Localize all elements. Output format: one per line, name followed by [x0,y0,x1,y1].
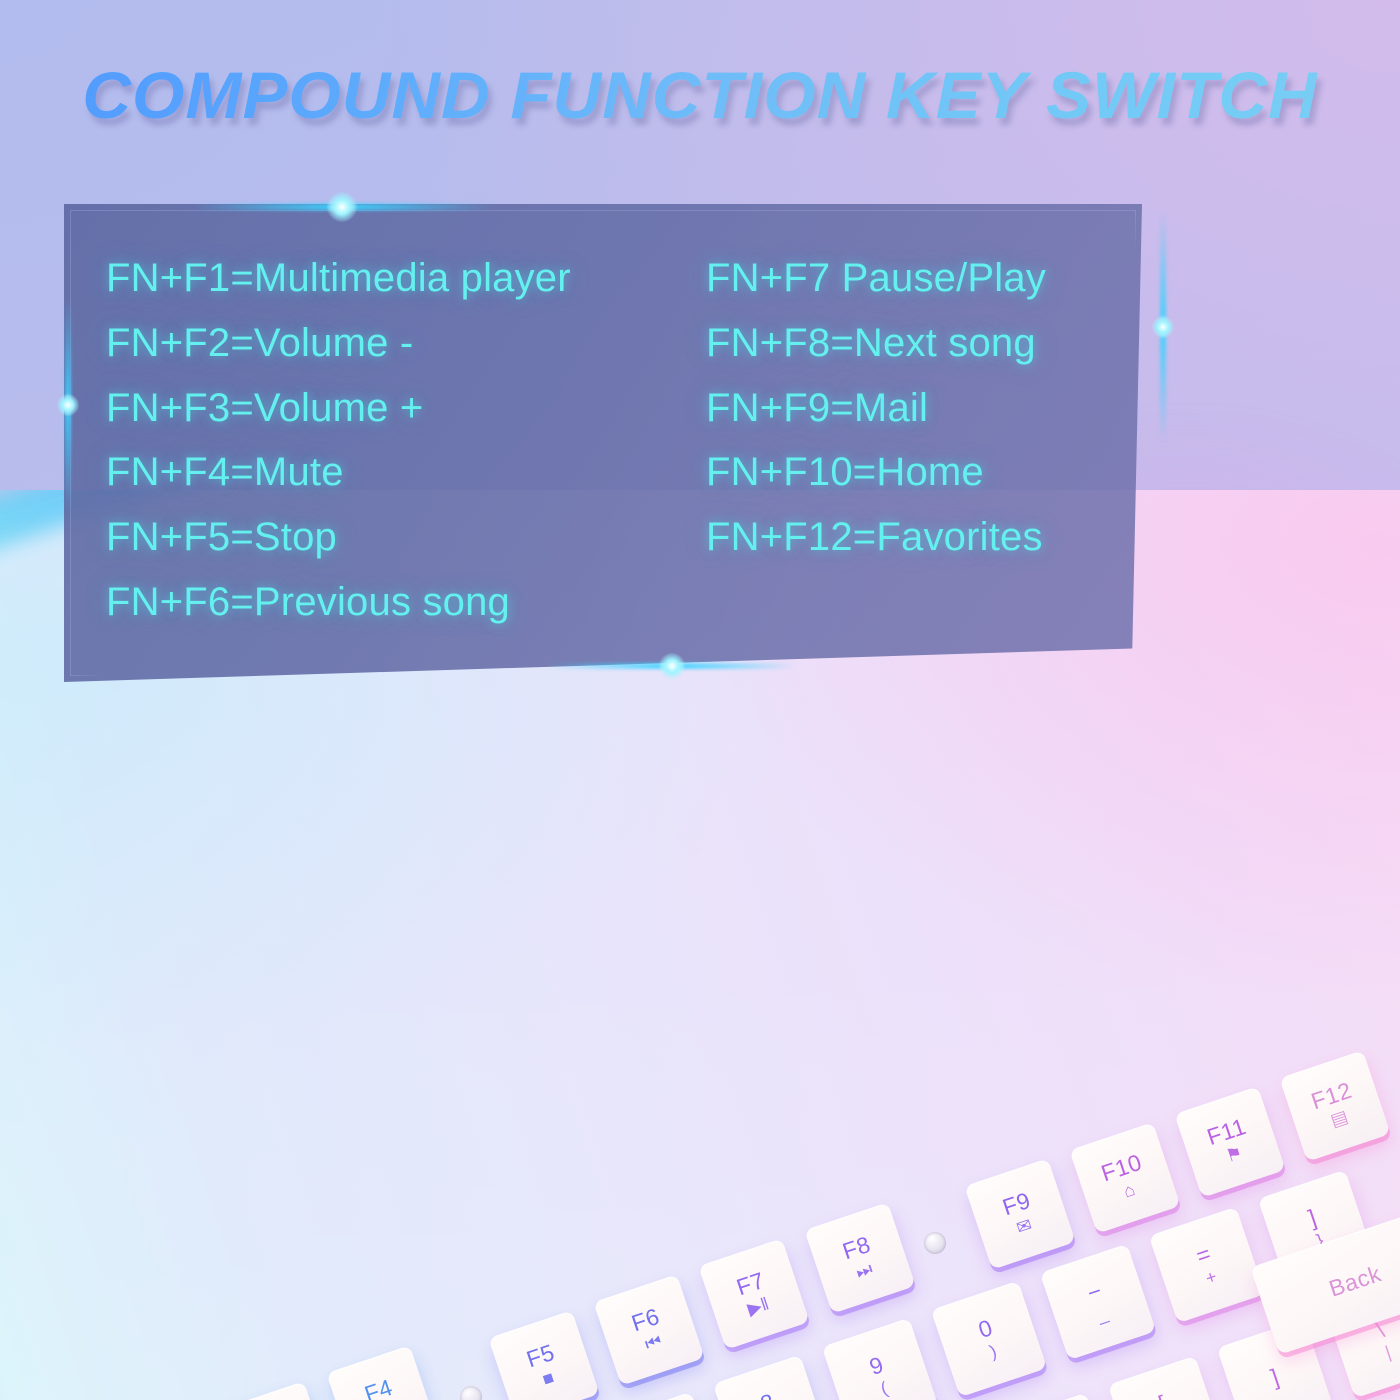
panel-column-left: FN+F1=Multimedia playerFN+F2=Volume -FN+… [106,246,706,682]
fn-shortcut-line: FN+F4=Mute [106,440,706,505]
keycap-secondary-legend: ▤ [1328,1107,1350,1130]
keycap-secondary-legend: + [1203,1267,1219,1288]
fn-shortcut-line: FN+F1=Multimedia player [106,246,706,311]
keycap-secondary-legend: _ [1095,1304,1110,1325]
fn-shortcut-line: FN+F12=Favorites [706,505,1142,570]
keycap-primary-legend: = [1193,1241,1214,1268]
page-title: COMPOUND FUNCTION KEY SWITCH [0,62,1400,128]
deck-screw [924,1232,946,1254]
function-key-info-panel: FN+F1=Multimedia playerFN+F2=Volume -FN+… [64,204,1142,682]
product-image-canvas: F1♪F2◂−F3◂+F4◂×F5■F6⏮F7▶‖F8⏭F9✉F10⌂F11⚑F… [0,0,1400,1400]
fn-shortcut-line: FN+F9=Mail [706,376,1142,441]
keycap-primary-legend: ] [1268,1364,1282,1389]
fn-shortcut-line: FN+F5=Stop [106,505,706,570]
keycap-secondary-legend: ⚑ [1224,1143,1245,1166]
keycap-primary-legend: − [1084,1278,1105,1305]
fn-shortcut-line: FN+F3=Volume + [106,376,706,441]
keycap-primary-legend: F12 [1308,1078,1355,1114]
keycap-secondary-legend: ( [878,1379,890,1399]
keycap-secondary-legend: ✉ [1014,1216,1034,1239]
keycap-secondary-legend: ⌂ [1121,1180,1137,1201]
keycap-secondary-legend: | [1383,1343,1393,1362]
fn-shortcut-line: FN+F10=Home [706,440,1142,505]
panel-column-right: FN+F7 Pause/PlayFN+F8=Next songFN+F9=Mai… [706,246,1142,682]
keycap-secondary-legend: ) [987,1342,999,1362]
keycap-secondary-legend: ⏮ [643,1331,664,1354]
keycap-primary-legend: F4 [361,1375,395,1400]
keycap-secondary-legend: ▶‖ [745,1295,771,1320]
keycap-secondary-legend: ■ [540,1368,556,1389]
keycap-primary-legend: 0 [975,1315,995,1342]
keycap-secondary-legend: ⏭ [854,1259,875,1282]
fn-shortcut-line: FN+F7 Pause/Play [706,246,1142,311]
fn-shortcut-line: FN+F2=Volume - [106,311,706,376]
keycap-primary-legend: F10 [1098,1150,1145,1186]
keycap-primary-legend: 9 [866,1352,886,1379]
fn-shortcut-line: FN+F6=Previous song [106,570,706,635]
keycap-primary-legend: Back [1326,1261,1384,1301]
keycap-primary-legend: F11 [1204,1114,1249,1149]
keycap-primary-legend: [ [1155,1391,1169,1400]
keycap-primary-legend: 8 [757,1389,777,1400]
fn-shortcut-line: FN+F8=Next song [706,311,1142,376]
keycap-primary-legend: ] [1305,1205,1319,1230]
panel-columns: FN+F1=Multimedia playerFN+F2=Volume -FN+… [64,204,1142,682]
keycap-primary-legend: F5 [523,1340,557,1372]
